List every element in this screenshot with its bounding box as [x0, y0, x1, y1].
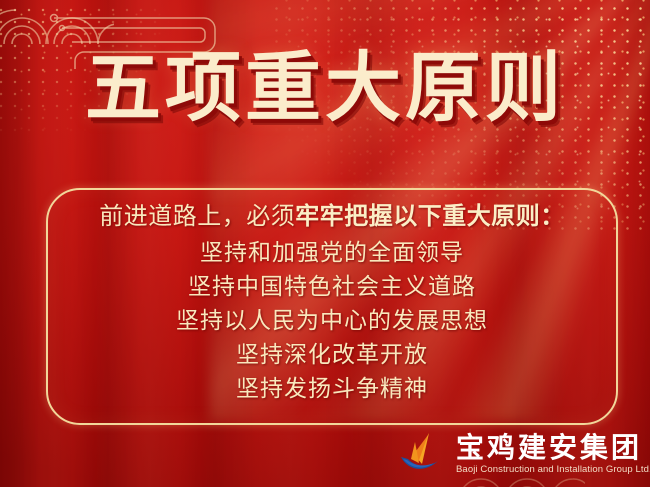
principle-item-1: 坚持和加强党的全面领导: [46, 236, 618, 270]
lead-sentence: 前进道路上，必须牢牢把握以下重大原则：: [46, 196, 618, 236]
poster-canvas: 五项重大原则 前进道路上，必须牢牢把握以下重大原则： 坚持和加强党的全面领导 坚…: [0, 0, 650, 487]
company-name-group: 宝鸡建安集团 Baoji Construction and Installati…: [456, 433, 650, 476]
principle-item-4: 坚持深化改革开放: [46, 338, 618, 372]
company-name-cn: 宝鸡建安集团: [456, 433, 650, 463]
lead-sentence-emphasis: 牢牢把握以下重大原则：: [295, 202, 565, 230]
company-name-en: Baoji Construction and Installation Grou…: [456, 464, 650, 476]
sail-bird-logo-icon: [398, 430, 450, 478]
principle-item-5: 坚持发扬斗争精神: [46, 372, 618, 406]
principles-block: 前进道路上，必须牢牢把握以下重大原则： 坚持和加强党的全面领导 坚持中国特色社会…: [46, 196, 618, 406]
lead-sentence-prefix: 前进道路上，必须: [99, 202, 295, 230]
principle-item-3: 坚持以人民为中心的发展思想: [46, 304, 618, 338]
company-logo-lockup: 宝鸡建安集团 Baoji Construction and Installati…: [398, 427, 646, 481]
principle-item-2: 坚持中国特色社会主义道路: [46, 270, 618, 304]
page-title: 五项重大原则: [0, 50, 650, 126]
